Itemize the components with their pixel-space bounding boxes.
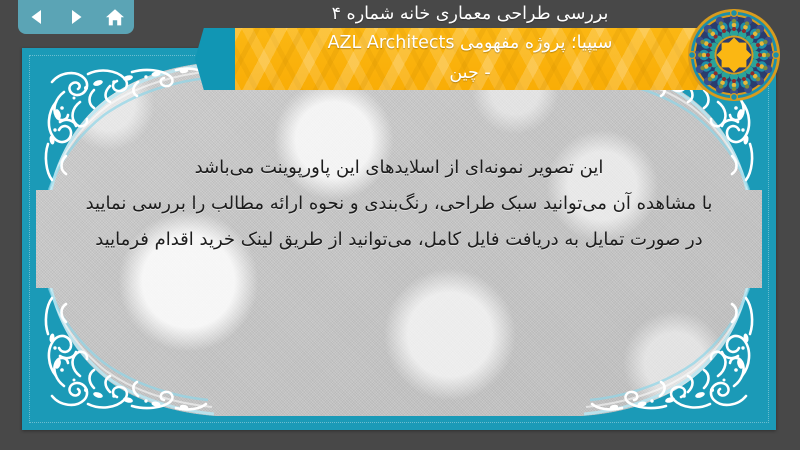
slide-frame: این تصویر نمونه‌ای از اسلایدهای این پاور… — [22, 48, 776, 430]
body-line-3: در صورت تمایل به دریافت فایل کامل، می‌تو… — [76, 222, 722, 258]
arabesque-corner-icon-bottom-left — [36, 288, 216, 416]
title-line-1: بررسی طراحی معماری خانه شماره ۴ — [210, 0, 730, 29]
body-line-2: با مشاهده آن می‌توانید سبک طراحی، رنگ‌بن… — [76, 186, 722, 222]
arabesque-corner-icon-bottom-right — [582, 288, 762, 416]
slide-body-text: این تصویر نمونه‌ای از اسلایدهای این پاور… — [76, 150, 722, 258]
slide-viewer: بررسی طراحی معماری خانه شماره ۴ سیپیا؛ پ… — [0, 0, 800, 450]
body-line-1: این تصویر نمونه‌ای از اسلایدهای این پاور… — [76, 150, 722, 186]
home-button[interactable] — [101, 4, 129, 30]
title-line-2: سیپیا؛ پروژه مفهومی AZL Architects — [210, 28, 730, 58]
circular-mosaic-medallion-icon — [686, 7, 782, 103]
back-triangle-icon — [28, 8, 46, 26]
home-icon — [105, 8, 125, 27]
navigation-bar — [18, 0, 134, 34]
slide-canvas: این تصویر نمونه‌ای از اسلایدهای این پاور… — [36, 62, 762, 416]
back-button[interactable] — [23, 4, 51, 30]
title-line-3: - چین — [210, 58, 730, 88]
forward-triangle-icon — [67, 8, 85, 26]
forward-button[interactable] — [62, 4, 90, 30]
